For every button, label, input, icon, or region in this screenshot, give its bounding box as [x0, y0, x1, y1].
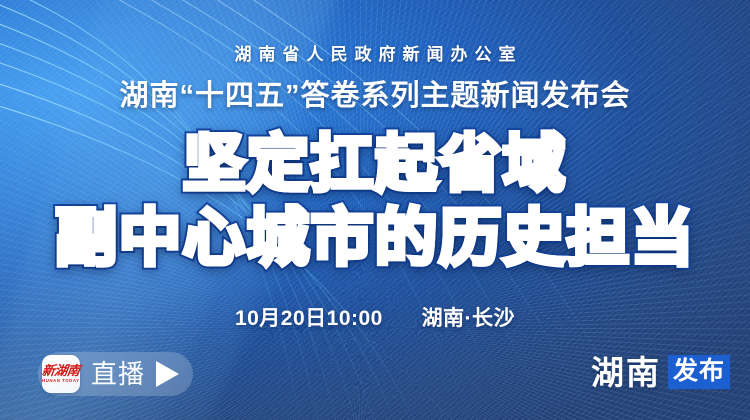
headline-line2-text: 副中心城市的历史担当: [55, 204, 695, 273]
headline-line1-text: 坚定扛起省域: [183, 130, 567, 199]
series-title: 湖南“十四五”答卷系列主题新闻发布会: [0, 72, 750, 114]
brand-name: 湖南: [591, 356, 661, 389]
headline-line2: 副中心城市的历史担当: [0, 208, 750, 270]
event-meta: 10月20日10:00 湖南·长沙: [0, 302, 750, 332]
hunan-today-app-logo: 新湖南 HUNAN TODAY: [42, 355, 80, 393]
event-location: 湖南·长沙: [422, 307, 516, 330]
play-triangle-icon[interactable]: [156, 361, 179, 387]
poster-content: 湖南省人民政府新闻办公室 湖南“十四五”答卷系列主题新闻发布会 坚定扛起省域 坚…: [0, 0, 750, 420]
app-logo-chinese-text: 新湖南: [41, 364, 80, 377]
live-stream-button[interactable]: 新湖南 HUNAN TODAY 直播: [38, 352, 193, 396]
app-logo-english-text: HUNAN TODAY: [42, 380, 79, 384]
headline-line1: 坚定扛起省域: [0, 134, 750, 196]
organization-label: 湖南省人民政府新闻办公室: [0, 40, 750, 65]
live-label: 直播: [91, 361, 145, 387]
brand-badge: 发布: [668, 355, 730, 389]
press-conference-poster: 湖南省人民政府新闻办公室 湖南“十四五”答卷系列主题新闻发布会 坚定扛起省域 坚…: [0, 0, 750, 420]
event-datetime: 10月20日10:00: [235, 307, 383, 330]
hunan-fabu-brand: 湖南 发布: [591, 355, 730, 389]
